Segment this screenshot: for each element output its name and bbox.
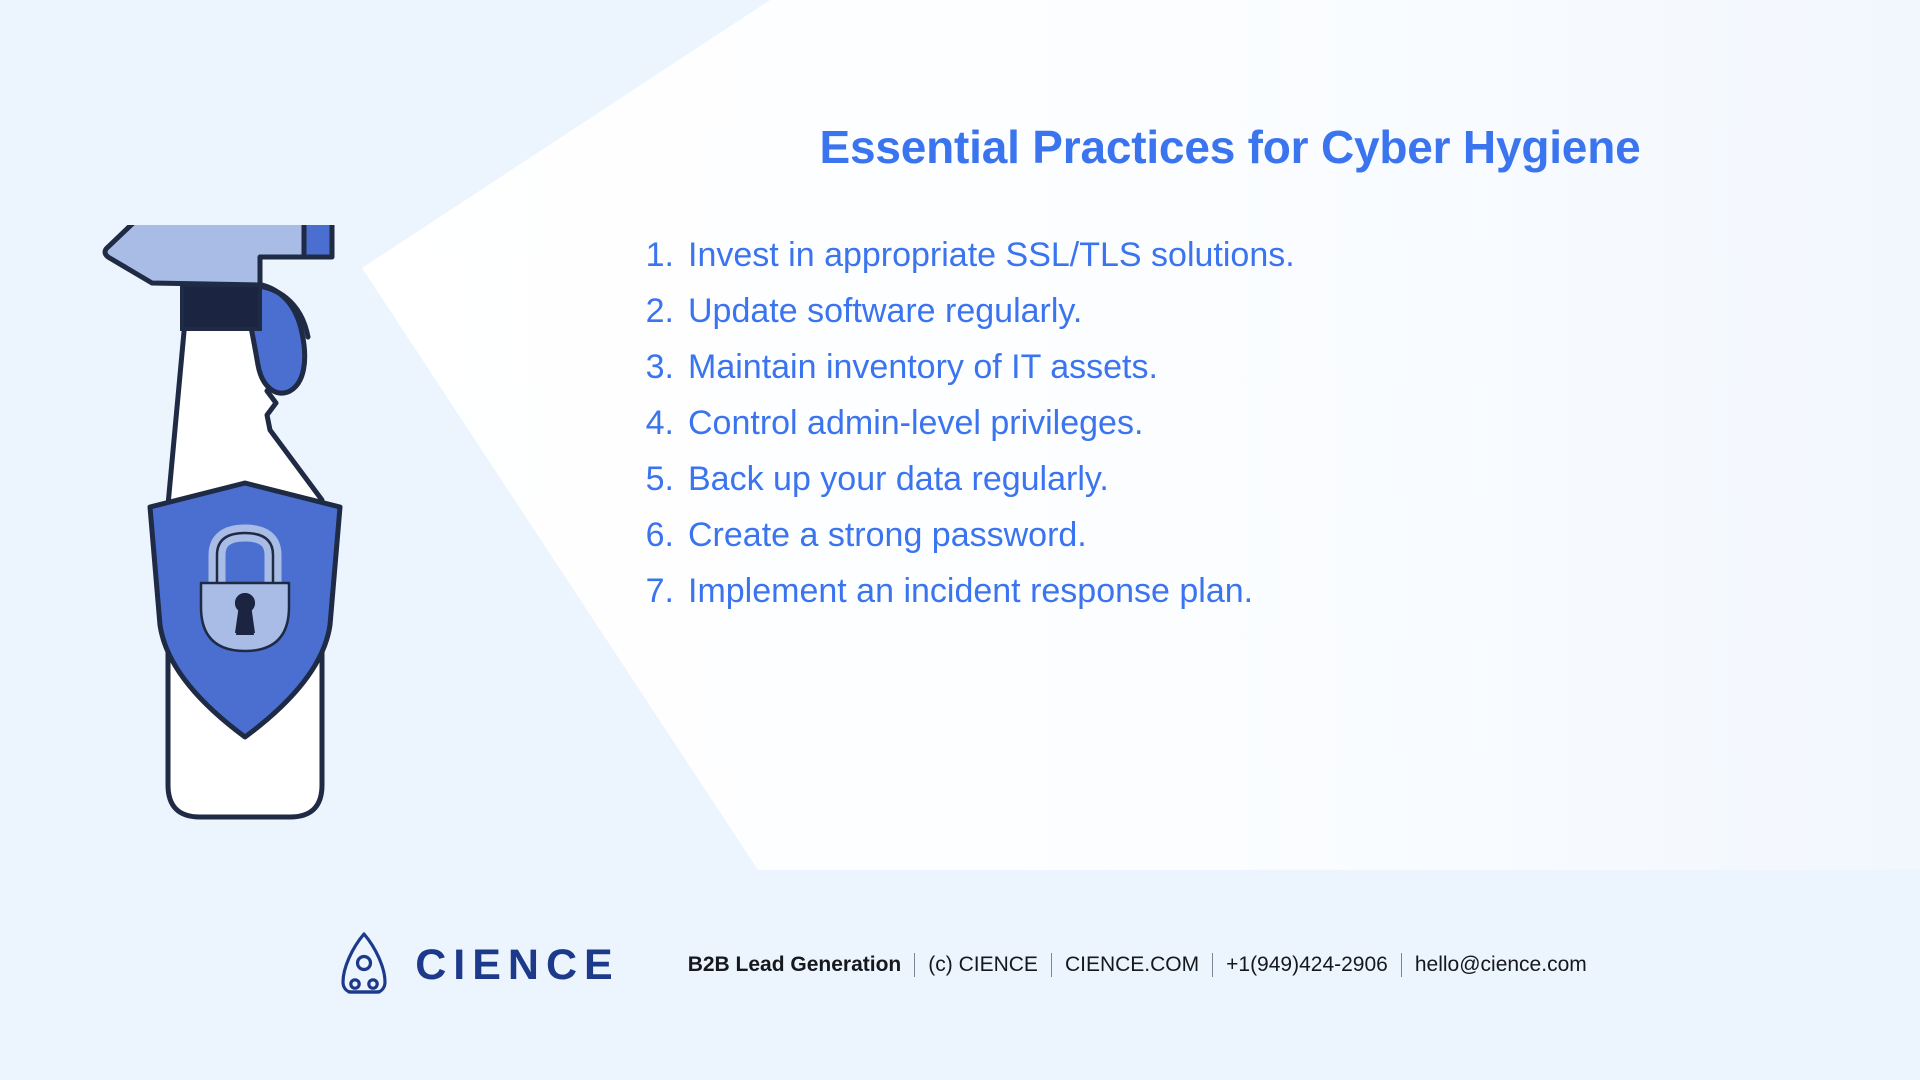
list-item-label: Implement an incident response plan.: [688, 574, 1253, 608]
bottle-collar: [182, 285, 260, 329]
rocket-icon: [333, 930, 395, 1000]
spray-bottle-illustration: [90, 225, 430, 845]
footer: CIENCE B2B Lead Generation (c) CIENCE CI…: [0, 870, 1920, 1080]
list-item: 4. Control admin-level privileges.: [612, 406, 1860, 462]
footer-copyright: (c) CIENCE: [928, 953, 1038, 977]
practices-list: 1. Invest in appropriate SSL/TLS solutio…: [600, 238, 1860, 630]
list-item: 3. Maintain inventory of IT assets.: [612, 350, 1860, 406]
footer-tagline: B2B Lead Generation: [688, 953, 902, 977]
list-item-label: Create a strong password.: [688, 518, 1087, 552]
list-item: 2. Update software regularly.: [612, 294, 1860, 350]
list-item-number: 3.: [642, 350, 688, 384]
content-column: Essential Practices for Cyber Hygiene 1.…: [600, 120, 1860, 630]
list-item-number: 6.: [642, 518, 688, 552]
list-item-label: Control admin-level privileges.: [688, 406, 1143, 440]
page-title: Essential Practices for Cyber Hygiene: [600, 120, 1860, 174]
brand-logo: CIENCE: [333, 930, 619, 1000]
footer-website[interactable]: CIENCE.COM: [1065, 953, 1199, 977]
list-item-number: 1.: [642, 238, 688, 272]
list-item: 5. Back up your data regularly.: [612, 462, 1860, 518]
footer-phone[interactable]: +1(949)424-2906: [1226, 953, 1388, 977]
footer-divider: [914, 953, 915, 977]
list-item-label: Invest in appropriate SSL/TLS solutions.: [688, 238, 1295, 272]
footer-divider: [1051, 953, 1052, 977]
list-item: 6. Create a strong password.: [612, 518, 1860, 574]
list-item-label: Back up your data regularly.: [688, 462, 1109, 496]
list-item-label: Maintain inventory of IT assets.: [688, 350, 1158, 384]
list-item-label: Update software regularly.: [688, 294, 1082, 328]
bottle-spray-head: [105, 225, 306, 285]
footer-divider: [1401, 953, 1402, 977]
list-item-number: 5.: [642, 462, 688, 496]
bottle-nozzle-tip: [304, 225, 332, 257]
list-item-number: 7.: [642, 574, 688, 608]
footer-email[interactable]: hello@cience.com: [1415, 953, 1587, 977]
footer-contact-line: B2B Lead Generation (c) CIENCE CIENCE.CO…: [688, 953, 1587, 977]
list-item: 1. Invest in appropriate SSL/TLS solutio…: [612, 238, 1860, 294]
list-item-number: 4.: [642, 406, 688, 440]
brand-wordmark: CIENCE: [415, 941, 619, 990]
list-item: 7. Implement an incident response plan.: [612, 574, 1860, 630]
list-item-number: 2.: [642, 294, 688, 328]
footer-divider: [1212, 953, 1213, 977]
